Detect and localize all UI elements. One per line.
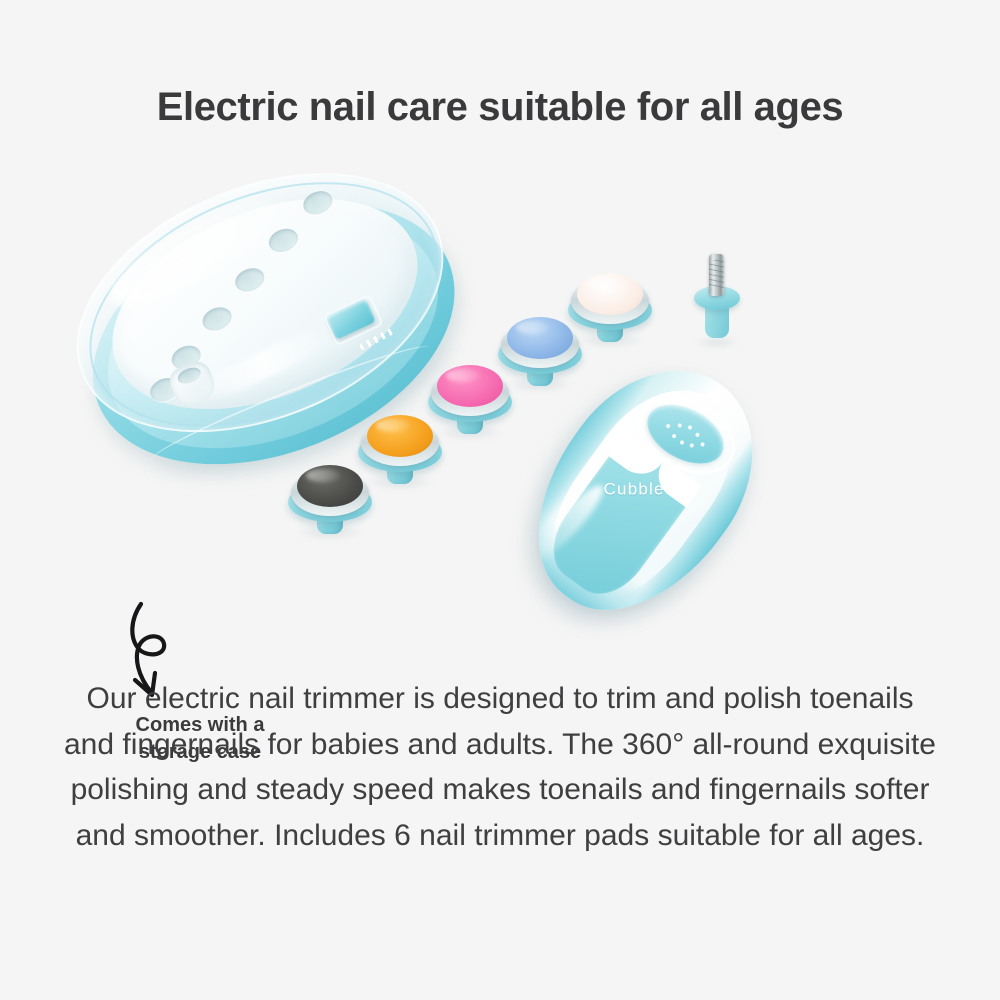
brand-label: Cubble <box>588 480 680 500</box>
pad-highlight <box>586 277 620 290</box>
bit-metal-tip <box>709 254 724 296</box>
pad-recess <box>265 225 301 257</box>
product-hero-image: Cubble Comes with a storage case <box>0 160 1000 660</box>
page-title: Electric nail care suitable for all ages <box>0 85 1000 130</box>
product-description: Our electric nail trimmer is designed to… <box>60 676 940 858</box>
pad-highlight <box>516 321 550 334</box>
pad-recess <box>232 264 268 296</box>
metal-grinding-bit <box>688 252 746 348</box>
product-marketing-image: Electric nail care suitable for all ages <box>0 0 1000 1000</box>
pad-highlight <box>376 419 410 432</box>
pad-highlight <box>306 469 340 482</box>
pad-highlight <box>446 369 480 382</box>
pad-recess <box>199 303 235 335</box>
